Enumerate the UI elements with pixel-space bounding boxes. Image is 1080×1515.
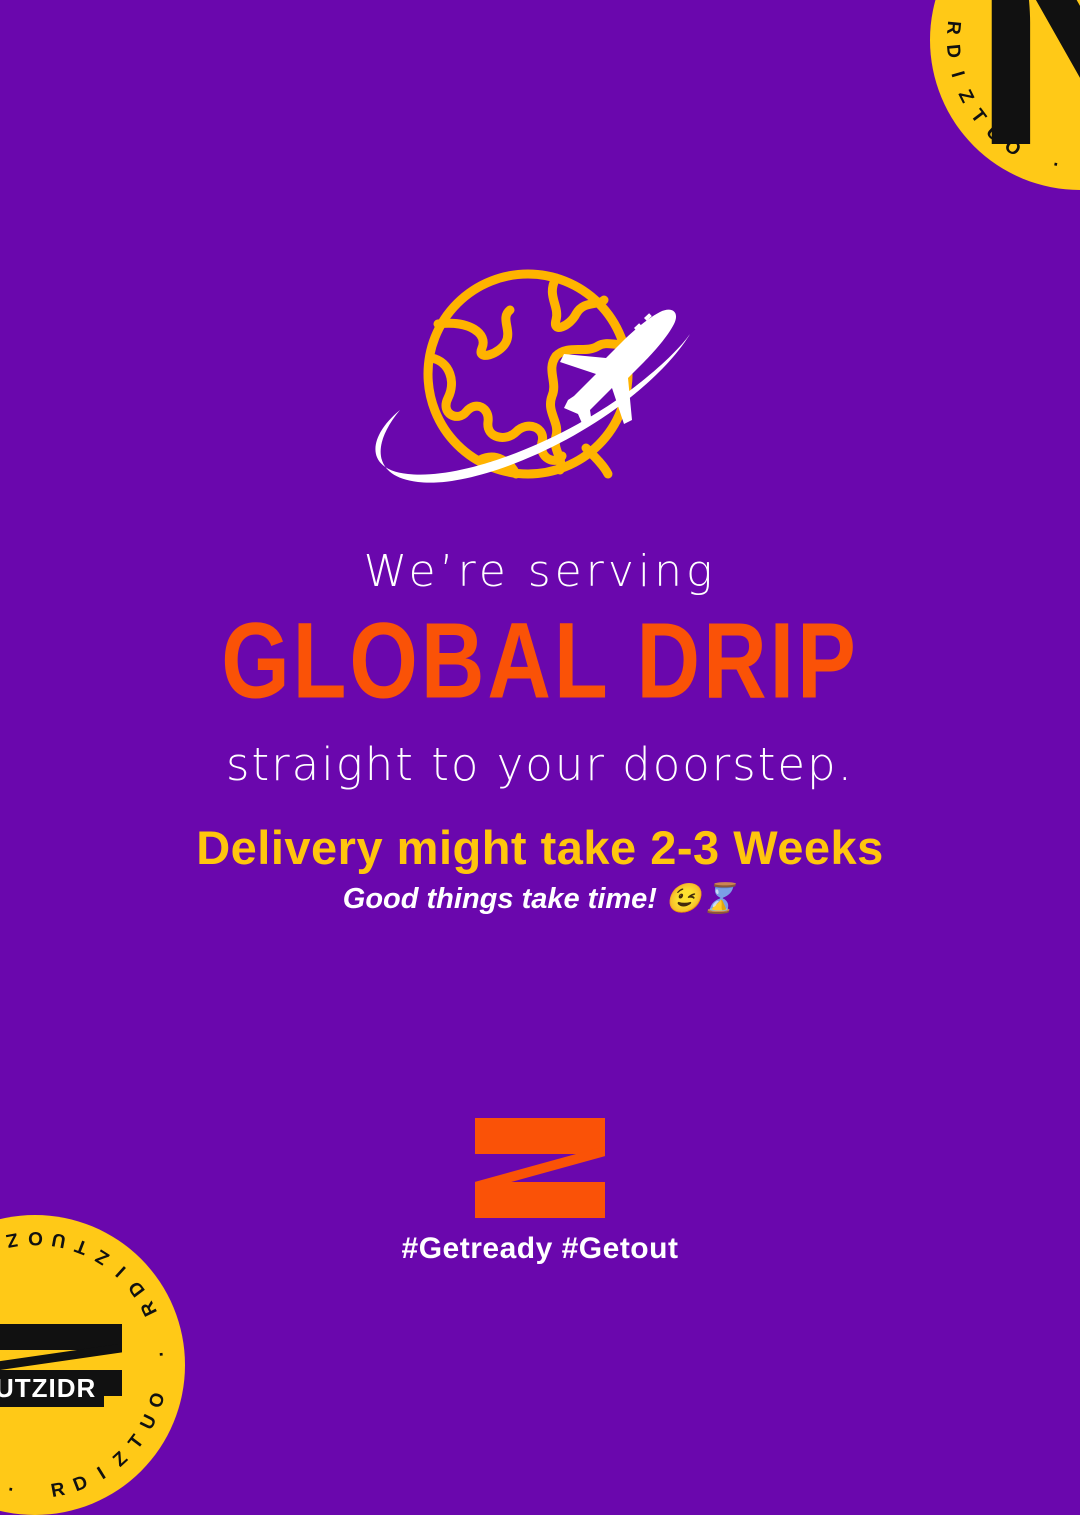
brand-badge-bottom-left: OUTZIDR·OUTZIDR·OUTZIDR·OUTZ OUTZIDR bbox=[0, 1215, 185, 1515]
badge-ring-glyph: D bbox=[124, 1275, 150, 1300]
badge-ring-glyph: T bbox=[71, 1233, 91, 1258]
outzidr-z-logo bbox=[475, 1118, 605, 1218]
brand-badge-top-right: OUTZIDR·OUTZIDR·OUTZIDR·OUTZ N bbox=[930, 0, 1080, 190]
delivery-notice: Delivery might take 2-3 Weeks bbox=[0, 820, 1080, 875]
badge-z-top-bar bbox=[0, 1324, 122, 1350]
badge-ring-glyph: I bbox=[112, 1260, 131, 1280]
pretext-line: We’re serving bbox=[0, 548, 1080, 596]
poster-canvas: OUTZIDR·OUTZIDR·OUTZIDR·OUTZ N bbox=[0, 0, 1080, 1440]
badge-ring-glyph: · bbox=[6, 1479, 17, 1502]
badge-core: OUTZIDR bbox=[0, 1324, 122, 1407]
main-headline: GLOBAL DRIP bbox=[0, 599, 1080, 722]
badge-ring-glyph: R bbox=[941, 20, 964, 37]
badge-core-label: OUTZIDR bbox=[0, 1370, 104, 1407]
badge-ring-glyph: I bbox=[94, 1463, 111, 1485]
badge-ring-glyph: R bbox=[49, 1479, 68, 1503]
hero-illustration bbox=[0, 262, 1080, 492]
badge-ring-glyph: R bbox=[136, 1296, 162, 1319]
badge-ring-glyph: O bbox=[145, 1389, 170, 1410]
badge-ring-glyph: U bbox=[136, 1411, 162, 1434]
badge-ring-glyph: Z bbox=[91, 1244, 113, 1269]
globe-airplane-icon bbox=[360, 262, 720, 492]
badge-ring-glyph: D bbox=[941, 43, 964, 60]
badge-ring-glyph: U bbox=[49, 1227, 68, 1251]
badge-ring-glyph: I bbox=[945, 69, 968, 81]
z-bottom-bar bbox=[475, 1182, 605, 1218]
headline-block: We’re serving GLOBAL DRIP straight to yo… bbox=[0, 548, 1080, 791]
posttext-line: straight to your doorstep. bbox=[0, 738, 1080, 791]
hashtag-line: #Getready #Getout bbox=[402, 1232, 679, 1266]
delivery-subnote: Good things take time! 😉⌛ bbox=[0, 882, 1080, 916]
badge-ring-glyph: O bbox=[27, 1226, 43, 1248]
badge-ring-glyph: Z bbox=[3, 1227, 19, 1251]
badge-big-letter: N bbox=[972, 0, 1080, 160]
badge-ring-glyph: Z bbox=[109, 1447, 133, 1472]
badge-ring-glyph: D bbox=[70, 1471, 92, 1497]
z-top-bar bbox=[475, 1118, 605, 1154]
badge-ring-glyph: · bbox=[151, 1349, 174, 1358]
badge-ring-glyph: T bbox=[125, 1430, 150, 1453]
